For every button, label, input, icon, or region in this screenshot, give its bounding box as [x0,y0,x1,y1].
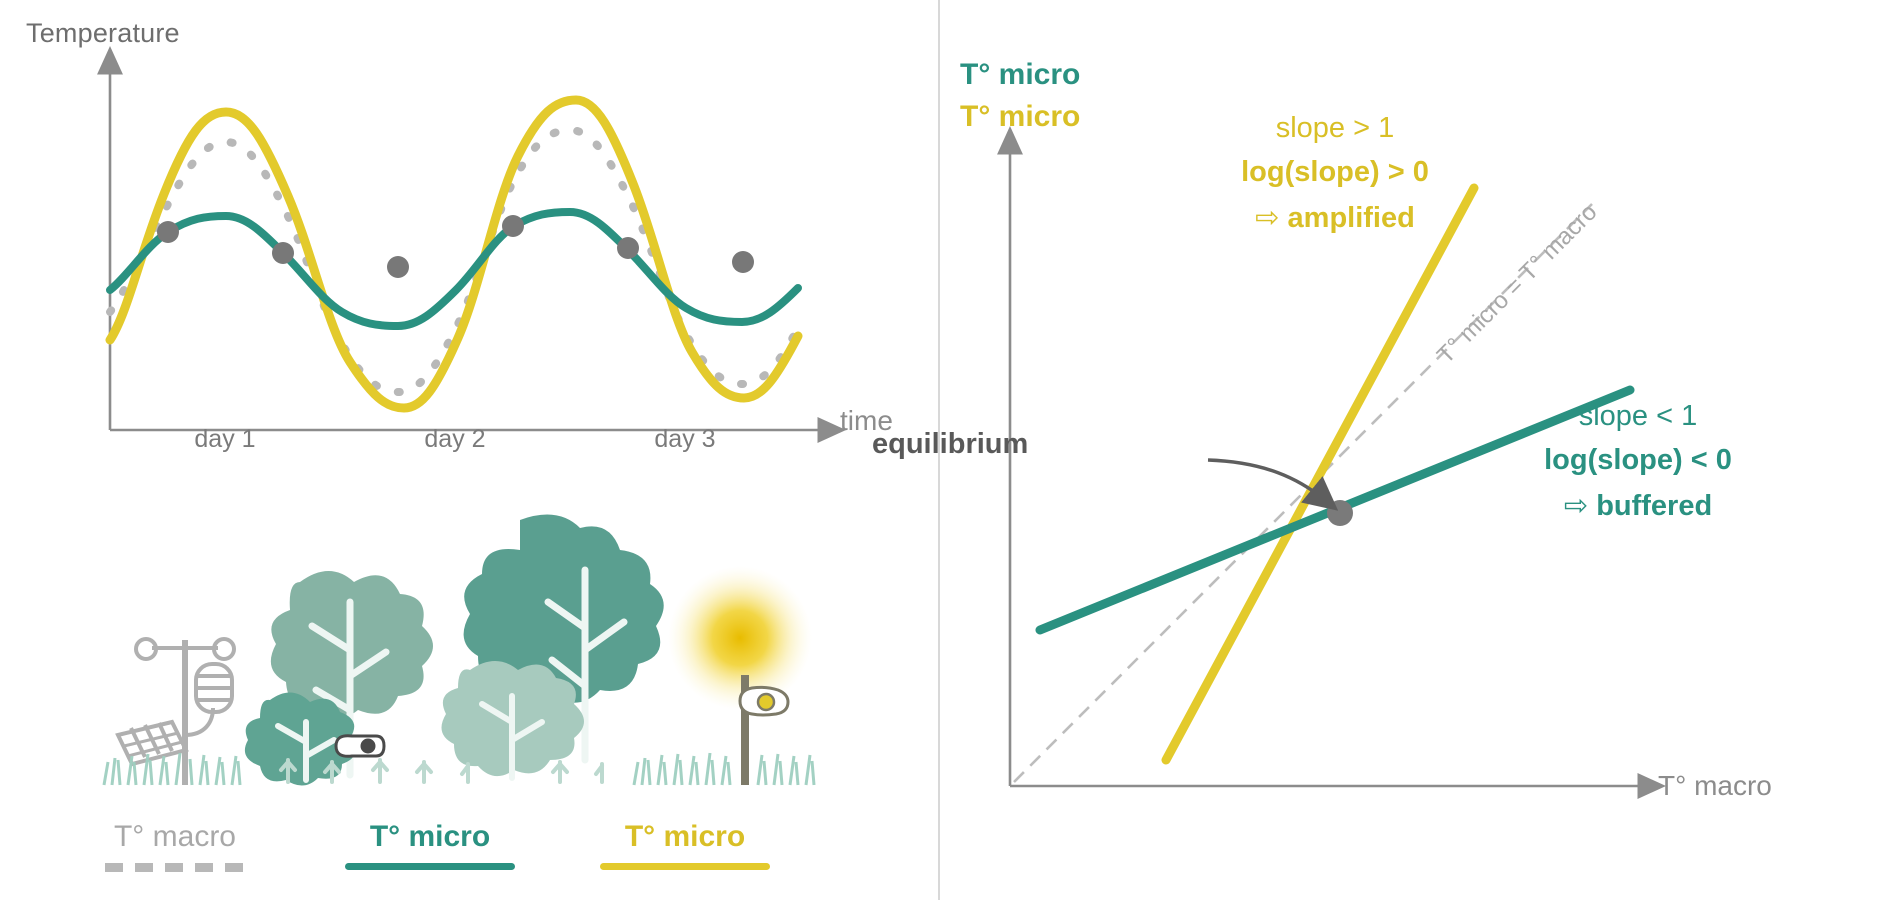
sun-open-field-icon [668,566,812,785]
legend-label-micro-buffered: T° micro [320,820,540,853]
sun-glow [668,566,812,710]
equilibrium-label: equilibrium [872,428,1028,461]
amplified-logslope-text: log(slope) > 0 [1170,156,1500,189]
buffered-effect-text: buffered [1596,490,1712,522]
legend-label-macro: T° macro [75,820,275,853]
buffered-slope-text: slope < 1 [1468,400,1808,433]
buffered-arrow-icon: ⇨ [1564,490,1588,522]
legend-item-micro-buffered: T° micro [320,820,540,870]
forest-canopy-icon [245,515,664,786]
legend-item-macro: T° macro [75,820,275,872]
amplified-arrow-icon: ⇨ [1255,202,1279,234]
habitat-illustration [0,510,940,800]
x-axis-label-macro: T° macro [1658,770,1772,802]
annotation-buffered: slope < 1 log(slope) < 0 ⇨ buffered [1468,400,1808,523]
timeseries-panel: Temperature time day 1 [0,0,940,900]
scatter-relationship-panel: T° micro T° micro equilibrium T° mi [940,0,1892,900]
buffered-logslope-text: log(slope) < 0 [1468,444,1808,477]
legend-swatch-macro [105,863,245,872]
amplified-effect-row: ⇨ amplified [1170,200,1500,235]
sensor-logger-icon [336,736,384,757]
amplified-effect-text: amplified [1288,202,1415,234]
annotation-amplified: slope > 1 log(slope) > 0 ⇨ amplified [1170,112,1500,235]
amplified-slope-text: slope > 1 [1170,112,1500,145]
legend-label-micro-amplified: T° micro [575,820,795,853]
grass-open-field [634,753,814,785]
legend-swatch-micro-amplified [600,863,770,870]
grass-macro [104,753,240,785]
equilibrium-point-marker [1327,500,1353,526]
x-tick-day-3: day 3 [610,425,760,454]
x-tick-day-2: day 2 [380,425,530,454]
series-micro-buffered [110,212,798,326]
buffered-effect-row: ⇨ buffered [1468,488,1808,523]
legend-item-micro-amplified: T° micro [575,820,795,870]
x-tick-day-1: day 1 [150,425,300,454]
legend-swatch-micro-buffered [345,863,515,870]
